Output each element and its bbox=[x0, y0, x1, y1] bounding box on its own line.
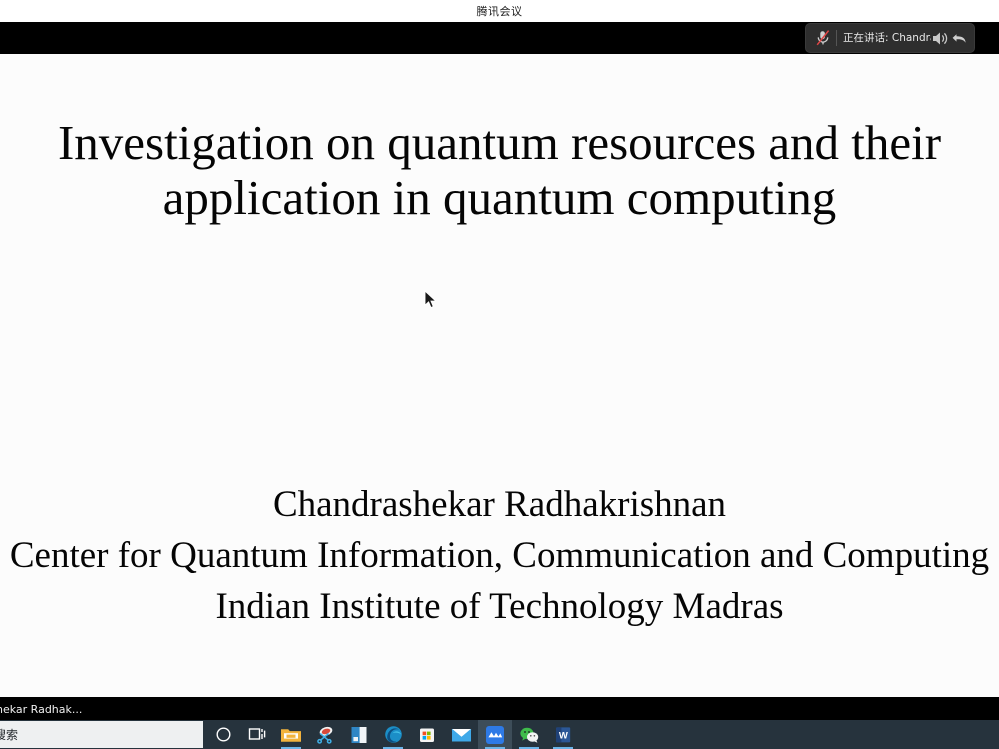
screen-root: 腾讯会议 正在讲话: Chandrashekar... bbox=[0, 0, 999, 749]
taskbar-search-box[interactable]: 搜索 bbox=[0, 721, 203, 748]
microphone-muted-icon[interactable] bbox=[812, 28, 834, 48]
slide-author-block: Chandrashekar Radhakrishnan Center for Q… bbox=[0, 479, 999, 632]
author-name: Chandrashekar Radhakrishnan bbox=[0, 479, 999, 530]
mouse-cursor bbox=[424, 290, 438, 310]
wechat-icon bbox=[519, 726, 540, 744]
store-icon bbox=[418, 726, 436, 744]
slide-title: Investigation on quantum resources and t… bbox=[0, 116, 999, 226]
taskbar-icon-group: W bbox=[206, 720, 580, 749]
svg-text:W: W bbox=[559, 730, 568, 741]
edge-icon bbox=[384, 725, 403, 744]
taskbar-window-label[interactable]: hekar Radhak... bbox=[0, 703, 82, 716]
task-view-icon bbox=[248, 726, 267, 743]
taskbar-item-notes-app[interactable] bbox=[342, 720, 376, 749]
taskbar-item-microsoft-store[interactable] bbox=[410, 720, 444, 749]
pill-icon-group bbox=[931, 30, 968, 47]
taskbar-item-wechat[interactable] bbox=[512, 720, 546, 749]
blue-document-icon bbox=[350, 726, 368, 744]
taskbar-item-mail[interactable] bbox=[444, 720, 478, 749]
bottom-black-band bbox=[0, 697, 999, 720]
word-icon: W bbox=[554, 726, 572, 744]
taskbar-item-cortana[interactable] bbox=[206, 720, 240, 749]
active-speaker-label: 正在讲话: Chandrashekar... bbox=[843, 24, 931, 52]
active-speaker-notification[interactable]: 正在讲话: Chandrashekar... bbox=[806, 24, 974, 52]
window-title: 腾讯会议 bbox=[477, 3, 523, 19]
scissors-icon bbox=[315, 725, 336, 744]
taskbar-item-microsoft-word[interactable]: W bbox=[546, 720, 580, 749]
back-arrow-icon[interactable] bbox=[951, 30, 968, 47]
folder-icon bbox=[280, 726, 302, 744]
taskbar-item-microsoft-edge[interactable] bbox=[376, 720, 410, 749]
volume-wave-icon[interactable] bbox=[931, 30, 948, 47]
taskbar-item-task-view[interactable] bbox=[240, 720, 274, 749]
author-affiliation: Center for Quantum Information, Communic… bbox=[0, 530, 999, 581]
author-institute: Indian Institute of Technology Madras bbox=[0, 581, 999, 632]
tencent-meeting-icon bbox=[485, 725, 505, 745]
taskbar-item-snipping-tool[interactable] bbox=[308, 720, 342, 749]
envelope-icon bbox=[451, 727, 472, 743]
taskbar-item-tencent-meeting[interactable] bbox=[478, 720, 512, 749]
search-placeholder-label: 搜索 bbox=[0, 726, 18, 743]
circle-icon bbox=[215, 726, 232, 743]
presentation-slide[interactable]: Investigation on quantum resources and t… bbox=[0, 54, 999, 697]
pill-divider bbox=[836, 30, 837, 46]
taskbar-item-file-explorer[interactable] bbox=[274, 720, 308, 749]
window-title-bar: 腾讯会议 bbox=[0, 0, 999, 22]
